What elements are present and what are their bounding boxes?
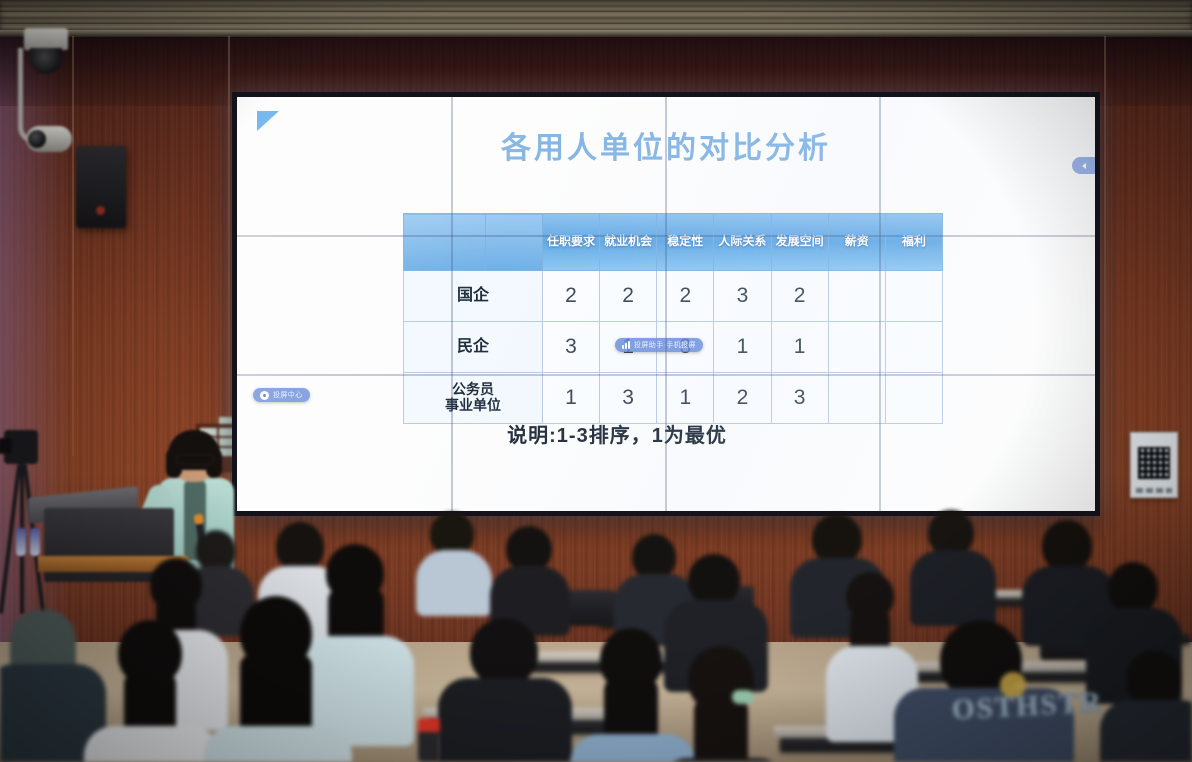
wall-speaker (76, 146, 126, 228)
table-header: 任职要求 就业机会 稳定性 人际关系 发展空间 薪资 福利 (404, 214, 943, 271)
cell-2-5 (828, 373, 885, 424)
slide-note: 说明:1-3排序，1为最优 (407, 419, 827, 448)
table-row: 国企 2 2 2 3 2 (404, 271, 943, 322)
presenter-glasses-icon (176, 454, 214, 465)
videowall-bezel-seam (237, 235, 1095, 237)
videowall-bezel-seam (237, 374, 1095, 376)
cell-0-0: 2 (542, 271, 599, 322)
wall-panel-seam (1104, 36, 1106, 536)
videowall-bezel-seam (665, 97, 667, 511)
red-water-bottle (418, 718, 440, 762)
row-label-0: 国企 (404, 271, 543, 322)
cell-0-4: 2 (771, 271, 828, 322)
comparison-table-wrapper: 任职要求 就业机会 稳定性 人际关系 发展空间 薪资 福利 国企 2 (403, 213, 943, 424)
qr-code-icon (1138, 447, 1170, 479)
cell-2-6 (885, 373, 942, 424)
cell-1-4: 1 (771, 322, 828, 373)
row-label-2-line2: 事业单位 (405, 398, 541, 414)
table-header-row: 任职要求 就业机会 稳定性 人际关系 发展空间 薪资 福利 (404, 214, 943, 271)
row-label-2-line1: 公务员 (405, 382, 541, 398)
screencast-badge-left-label: 投屏中心 (273, 390, 303, 400)
header-col-0: 任职要求 (542, 214, 599, 271)
header-col-1: 就业机会 (600, 214, 657, 271)
table-row: 公务员 事业单位 1 3 1 2 3 (404, 373, 943, 424)
cell-0-6 (885, 271, 942, 322)
video-camera-icon (4, 430, 38, 464)
row-label-1: 民企 (404, 322, 543, 373)
header-col-5: 薪资 (828, 214, 885, 271)
cell-2-1: 3 (600, 373, 657, 424)
lecture-hall-scene: 各用人单位的对比分析 任职要求 就业机会 稳定性 人际关系 发展空间 薪资 (0, 0, 1192, 762)
cell-1-0: 3 (542, 322, 599, 373)
presentation-screen[interactable]: 各用人单位的对比分析 任职要求 就业机会 稳定性 人际关系 发展空间 薪资 (237, 97, 1095, 511)
bullet-camera-icon (26, 126, 72, 152)
header-blank-2 (485, 214, 542, 271)
cell-2-0: 1 (542, 373, 599, 424)
cell-1-5 (828, 322, 885, 373)
videowall-bezel-seam (879, 97, 881, 511)
cornice-lip (0, 30, 1192, 37)
header-col-4: 发展空间 (771, 214, 828, 271)
hoodie-text: OSTHSTR (951, 686, 1113, 727)
cell-0-3: 3 (714, 271, 771, 322)
qr-code-poster (1130, 432, 1178, 498)
cell-2-4: 3 (771, 373, 828, 424)
control-panel-top-button[interactable] (219, 417, 233, 424)
cell-1-6 (885, 322, 942, 373)
dome-camera-icon (24, 28, 68, 50)
screencast-badge-left[interactable]: 投屏中心 (253, 388, 310, 402)
header-blank-1 (404, 214, 486, 271)
audience-area: OSTHSTR (0, 500, 1192, 762)
screencast-badge-center[interactable]: 投屏助手·手机投屏 (615, 338, 703, 352)
header-col-3: 人际关系 (714, 214, 771, 271)
comparison-table: 任职要求 就业机会 稳定性 人际关系 发展空间 薪资 福利 国企 2 (403, 213, 943, 424)
row-label-2: 公务员 事业单位 (404, 373, 543, 424)
video-wall[interactable]: 各用人单位的对比分析 任职要求 就业机会 稳定性 人际关系 发展空间 薪资 (232, 92, 1100, 516)
poster-caption-lines (1136, 488, 1172, 493)
videowall-bezel-seam (451, 97, 453, 511)
cell-1-3: 1 (714, 322, 771, 373)
cell-0-5 (828, 271, 885, 322)
ceiling-cornice (0, 0, 1192, 34)
header-col-6: 福利 (885, 214, 942, 271)
cell-0-1: 2 (600, 271, 657, 322)
bar-chart-icon (622, 341, 630, 349)
hair-tie (732, 690, 754, 704)
chevron-left-icon[interactable] (1072, 157, 1095, 174)
cell-2-3: 2 (714, 373, 771, 424)
wall-panel-seam (72, 36, 74, 456)
record-dot-icon (260, 391, 269, 400)
